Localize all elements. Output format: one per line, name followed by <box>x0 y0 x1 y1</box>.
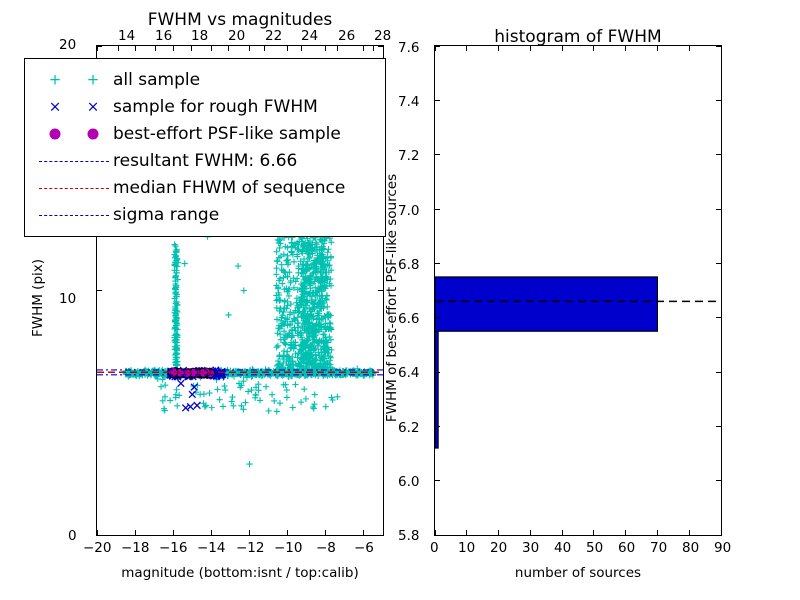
right-ytick-6.8: 6.8 <box>398 257 419 273</box>
axis-tick <box>716 317 721 318</box>
left-xtick--20: −20 <box>83 540 112 556</box>
axis-tick <box>118 46 119 51</box>
legend-symbol-plus: + + <box>35 68 113 92</box>
left-toptick-18: 18 <box>191 28 208 44</box>
legend-symbol-dashed-red <box>35 176 113 200</box>
axis-tick <box>562 530 563 535</box>
right-plot-area <box>435 46 721 535</box>
right-xtick-20: 20 <box>490 540 507 556</box>
axis-tick <box>435 46 440 47</box>
left-xtick--10: −10 <box>274 540 303 556</box>
axis-tick <box>498 46 499 51</box>
right-ytick-6.4: 6.4 <box>398 365 419 381</box>
legend-item-psf-like[interactable]: best-effort PSF-like sample <box>35 120 375 147</box>
axis-tick <box>562 46 563 51</box>
axis-tick <box>155 46 156 51</box>
legend-item-median-fwhm[interactable]: median FHWM of sequence <box>35 174 375 201</box>
axis-tick <box>625 530 626 535</box>
right-yaxis-label: FWHM of best-effort PSF-like sources <box>384 148 400 448</box>
plus-icon: + <box>87 72 100 87</box>
axis-tick <box>716 46 721 47</box>
right-xtick-0: 0 <box>430 540 439 556</box>
right-xtick-90: 90 <box>714 540 731 556</box>
legend-item-sigma-range[interactable]: sigma range <box>35 201 375 228</box>
legend-symbol-dashed-blue <box>35 149 113 173</box>
axis-tick <box>716 426 721 427</box>
left-xtick--14: −14 <box>197 540 226 556</box>
left-ytick-20: 20 <box>59 37 76 53</box>
axis-tick <box>264 46 265 51</box>
legend-label-psf-like: best-effort PSF-like sample <box>113 124 341 144</box>
right-xtick-50: 50 <box>586 540 603 556</box>
axis-tick <box>435 154 440 155</box>
axis-tick <box>657 46 658 51</box>
legend-symbol-dashdot <box>35 203 113 227</box>
left-xtick--16: −16 <box>159 540 188 556</box>
axis-tick <box>689 530 690 535</box>
axis-tick <box>657 530 658 535</box>
axis-tick <box>593 46 594 51</box>
axis-tick <box>721 46 722 51</box>
right-ytick-7.2: 7.2 <box>398 148 419 164</box>
right-xtick-80: 80 <box>682 540 699 556</box>
legend-label-sigma-range: sigma range <box>113 205 219 225</box>
legend-label-resultant-fwhm: resultant FWHM: 6.66 <box>113 151 297 171</box>
left-toptick-14: 14 <box>118 28 135 44</box>
axis-tick <box>593 530 594 535</box>
axis-tick <box>530 530 531 535</box>
figure-canvas: FWHM vs magnitudes 0 10 20 −20 −18 −16 −… <box>0 0 800 600</box>
plus-icon: + <box>49 72 62 87</box>
axis-tick <box>378 290 383 291</box>
axis-tick <box>173 530 174 535</box>
axis-tick <box>625 46 626 51</box>
axis-tick <box>97 535 102 536</box>
axis-tick <box>716 535 721 536</box>
histogram-bar <box>435 277 657 331</box>
left-xtick--6: −6 <box>354 540 374 556</box>
axis-tick <box>716 480 721 481</box>
axis-tick <box>249 46 250 51</box>
left-ytick-0: 0 <box>68 528 77 544</box>
left-toptick-22: 22 <box>265 28 282 44</box>
axis-tick <box>135 530 136 535</box>
axis-tick <box>435 426 440 427</box>
axis-tick <box>337 46 338 51</box>
right-ytick-5.8: 5.8 <box>398 528 419 544</box>
right-xtick-10: 10 <box>458 540 475 556</box>
right-xtick-30: 30 <box>522 540 539 556</box>
right-xaxis-label: number of sources <box>436 565 720 581</box>
circle-icon <box>50 128 61 139</box>
right-ytick-7.4: 7.4 <box>398 94 419 110</box>
cross-icon: × <box>49 99 62 114</box>
right-xtick-40: 40 <box>554 540 571 556</box>
left-toptick-26: 26 <box>338 28 355 44</box>
axis-tick <box>211 530 212 535</box>
left-xtick--18: −18 <box>121 540 150 556</box>
axis-tick <box>249 530 250 535</box>
left-toptick-28: 28 <box>374 28 391 44</box>
left-ytick-10: 10 <box>59 291 76 307</box>
right-ytick-6.2: 6.2 <box>398 420 419 436</box>
axis-tick <box>325 46 326 51</box>
axis-tick <box>435 535 440 536</box>
axis-tick <box>228 46 229 51</box>
axis-tick <box>325 530 326 535</box>
axis-tick <box>191 46 192 51</box>
dashdot-line-icon <box>39 215 109 216</box>
axis-tick <box>287 530 288 535</box>
axis-tick <box>287 46 288 51</box>
axis-tick <box>716 263 721 264</box>
left-toptick-24: 24 <box>301 28 318 44</box>
axis-tick <box>97 46 98 51</box>
dashed-line-icon <box>39 188 109 189</box>
legend-label-median-fwhm: median FHWM of sequence <box>113 178 345 198</box>
axis-tick <box>466 530 467 535</box>
legend-symbol-cross: × × <box>35 95 113 119</box>
axis-tick <box>435 263 440 264</box>
axis-tick <box>97 46 102 47</box>
axis-tick <box>716 372 721 373</box>
axis-tick <box>378 46 383 47</box>
axis-tick <box>211 46 212 51</box>
circle-icon <box>88 128 99 139</box>
right-xtick-60: 60 <box>618 540 635 556</box>
axis-tick <box>689 46 690 51</box>
legend-label-rough-fwhm: sample for rough FWHM <box>113 97 318 117</box>
legend-item-resultant-fwhm[interactable]: resultant FWHM: 6.66 <box>35 147 375 174</box>
right-xtick-70: 70 <box>650 540 667 556</box>
right-ytick-6.0: 6.0 <box>398 474 419 490</box>
axis-tick <box>716 209 721 210</box>
left-toptick-20: 20 <box>228 28 245 44</box>
left-xtick--8: −8 <box>316 540 336 556</box>
right-plot-frame <box>434 45 722 536</box>
left-toptick-16: 16 <box>155 28 172 44</box>
axis-tick <box>378 535 383 536</box>
legend-item-all-sample[interactable]: + + all sample <box>35 66 375 93</box>
left-xaxis-label: magnitude (bottom:isnt / top:calib) <box>98 565 382 581</box>
axis-tick <box>498 530 499 535</box>
legend-item-rough-fwhm[interactable]: × × sample for rough FWHM <box>35 93 375 120</box>
axis-tick <box>530 46 531 51</box>
axis-tick <box>716 154 721 155</box>
left-chart-title: FWHM vs magnitudes <box>96 10 384 30</box>
axis-tick <box>373 46 374 51</box>
axis-tick <box>466 46 467 51</box>
axis-tick <box>435 100 440 101</box>
axis-tick <box>363 46 364 51</box>
right-ytick-7.6: 7.6 <box>398 40 419 56</box>
legend-label-all-sample: all sample <box>113 70 200 90</box>
left-xtick--12: −12 <box>236 540 265 556</box>
axis-tick <box>363 530 364 535</box>
axis-tick <box>435 46 436 51</box>
axis-tick <box>435 317 440 318</box>
right-ytick-7.0: 7.0 <box>398 203 419 219</box>
axis-tick <box>173 46 174 51</box>
axis-tick <box>435 480 440 481</box>
axis-tick <box>435 209 440 210</box>
axis-tick <box>301 46 302 51</box>
dashed-line-icon <box>39 161 109 162</box>
right-histogram-svg <box>435 46 721 535</box>
right-chart-title: histogram of FWHM <box>434 27 722 47</box>
axis-tick <box>97 290 102 291</box>
axis-tick <box>716 100 721 101</box>
legend-box: + + all sample × × sample for rough FWHM… <box>24 58 386 237</box>
axis-tick <box>435 372 440 373</box>
histogram-bar <box>435 331 438 448</box>
cross-icon: × <box>87 99 100 114</box>
right-ytick-6.6: 6.6 <box>398 311 419 327</box>
axis-tick <box>135 46 136 51</box>
legend-symbol-dot <box>35 122 113 146</box>
left-yaxis-label: FWHM (pix) <box>30 238 46 358</box>
